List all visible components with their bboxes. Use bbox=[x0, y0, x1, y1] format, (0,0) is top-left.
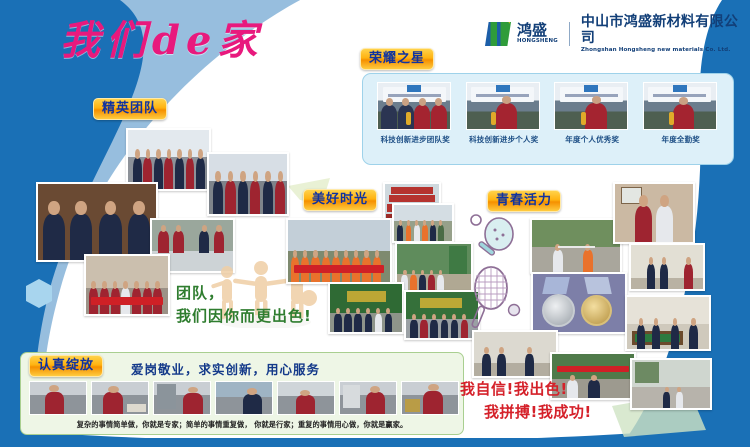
work-photo bbox=[339, 381, 397, 415]
photo-team-cheer bbox=[207, 152, 289, 216]
confidence-slogan-line2: 我拼搏!我成功! bbox=[484, 401, 592, 424]
photo-meeting-hall bbox=[472, 330, 558, 378]
photo-team-banner bbox=[84, 254, 170, 316]
honor-award-item: 年度个人优秀奖 bbox=[554, 82, 630, 145]
award-caption: 科技创新进步团队奖 bbox=[377, 135, 453, 145]
award-photo bbox=[377, 82, 451, 130]
logo-brand-en: HONGSHENG bbox=[517, 38, 558, 45]
award-photo bbox=[554, 82, 628, 130]
hexagon-decoration bbox=[26, 286, 52, 301]
page-title: 我们de家 bbox=[60, 8, 263, 66]
honor-award-row: 科技创新进步团队奖 科技创新进步个人奖 年度个人优秀奖 bbox=[363, 74, 733, 145]
team-slogan-line1: 团队， bbox=[176, 282, 312, 305]
logo-mark-icon: ✦ bbox=[485, 22, 511, 46]
award-photo bbox=[643, 82, 717, 130]
work-photo bbox=[153, 381, 211, 415]
photo-team-award bbox=[36, 182, 158, 262]
poster-canvas: 我们de家 ✦ 鸿盛 HONGSHENG 中山市鸿盛新材料有限公司 Zhongs… bbox=[0, 0, 750, 447]
team-slogan: 团队， 我们因你而更出色! bbox=[176, 282, 312, 328]
award-caption: 科技创新进步个人奖 bbox=[466, 135, 542, 145]
honor-award-item: 科技创新进步团队奖 bbox=[377, 82, 453, 145]
logo-brand-cn: 鸿盛 bbox=[517, 23, 558, 38]
company-logo: ✦ 鸿盛 HONGSHENG 中山市鸿盛新材料有限公司 Zhongshan Ho… bbox=[485, 14, 750, 54]
work-photo bbox=[401, 381, 459, 415]
photo-outing-group bbox=[392, 203, 454, 243]
award-caption: 年度个人优秀奖 bbox=[554, 135, 630, 145]
work-photo bbox=[29, 381, 87, 415]
work-photo bbox=[215, 381, 273, 415]
photo-outing-orange bbox=[286, 218, 392, 284]
work-caption: 复杂的事情简单做，你就是专家；简单的事情重复做， 你就是行家；重复的事情用心做，… bbox=[21, 420, 463, 430]
award-photo bbox=[466, 82, 540, 130]
company-name-en: Zhongshan Hongsheng new materials Co. Lt… bbox=[581, 46, 750, 54]
badge-elite-team: 精英团队 bbox=[93, 98, 167, 120]
logo-company-block: 中山市鸿盛新材料有限公司 Zhongshan Hongsheng new mat… bbox=[581, 14, 750, 54]
work-photo bbox=[277, 381, 335, 415]
racket-icons bbox=[466, 210, 536, 330]
badge-good-times: 美好时光 bbox=[303, 189, 377, 211]
badge-serious-bloom: 认真绽放 bbox=[29, 355, 103, 377]
badge-youth-vitality: 青春活力 bbox=[487, 190, 561, 212]
confidence-slogan: 我自信!我出色! 我拼搏!我成功! bbox=[460, 378, 592, 424]
photo-billiards bbox=[625, 295, 711, 351]
photo-medals bbox=[531, 272, 627, 334]
logo-star-icon: ✦ bbox=[505, 18, 513, 27]
work-motto: 爱岗敬业，求实创新，用心服务 bbox=[131, 359, 320, 378]
logo-divider bbox=[569, 22, 570, 46]
team-slogan-line2: 我们因你而更出色! bbox=[176, 305, 312, 328]
photo-corridor bbox=[629, 243, 705, 291]
work-photo bbox=[91, 381, 149, 415]
photo-badminton bbox=[530, 218, 622, 274]
company-name-cn: 中山市鸿盛新材料有限公司 bbox=[581, 14, 750, 46]
confidence-slogan-line1: 我自信!我出色! bbox=[460, 380, 568, 398]
honor-star-panel: 科技创新进步团队奖 科技创新进步个人奖 年度个人优秀奖 bbox=[362, 73, 734, 165]
honor-award-item: 年度全勤奖 bbox=[643, 82, 719, 145]
logo-brand-block: 鸿盛 HONGSHENG bbox=[517, 23, 558, 45]
work-photo-row bbox=[29, 381, 459, 415]
photo-park-trip bbox=[395, 242, 473, 294]
badge-honor-star: 荣耀之星 bbox=[360, 48, 434, 70]
photo-outdoor-walk bbox=[630, 358, 712, 410]
photo-award-handshake bbox=[613, 182, 695, 244]
award-caption: 年度全勤奖 bbox=[643, 135, 719, 145]
honor-award-item: 科技创新进步个人奖 bbox=[466, 82, 542, 145]
photo-flower-show-1 bbox=[328, 282, 404, 334]
